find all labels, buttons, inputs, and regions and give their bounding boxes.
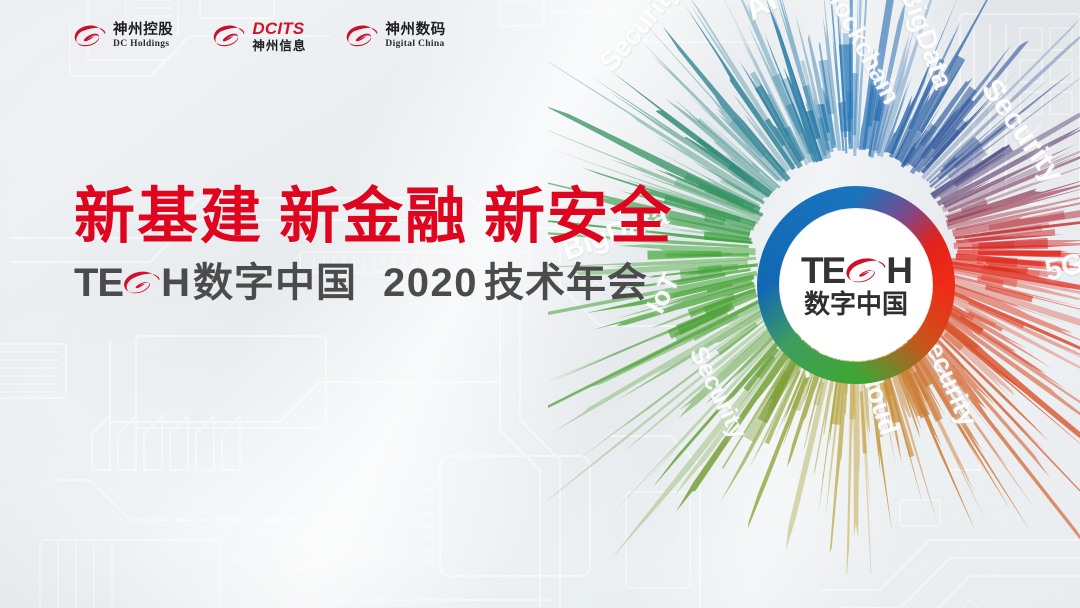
swoosh-icon [843, 256, 887, 286]
headline-block: 新基建新金融新安全 TE H 数字中国 2020 技术年会 [74, 186, 673, 303]
poster-canvas: SecurityAIBlockchainBigDataSecurity5GSec… [0, 0, 1080, 608]
logo-cn-label: 神州控股 [113, 23, 173, 38]
subtitle-swoosh-icon [121, 268, 161, 298]
poster-subtitle: TE H 数字中国 2020 技术年会 [74, 263, 673, 303]
logo-dc-holdings[interactable]: 神州控股 DC Holdings [72, 21, 173, 51]
dc-swoosh-icon [72, 21, 106, 51]
subtitle-tech-right: H [161, 263, 189, 303]
headline-part-2: 新金融 [279, 181, 468, 252]
subtitle-cn-label: 数字中国 [193, 263, 357, 303]
logo-en-label: DC Holdings [113, 40, 173, 50]
digital-china-swoosh-icon [344, 21, 378, 51]
logo-dcits[interactable]: DCITS 神州信息 [211, 20, 306, 53]
headline-part-3: 新安全 [484, 181, 673, 252]
logo-cn-sub-label: 神州信息 [252, 40, 306, 53]
emblem-tech-wordmark: TE H [801, 252, 911, 289]
emblem-core: TE H 数字中国 [781, 210, 931, 360]
logo-cn-label: 神州数码 [385, 23, 445, 38]
subtitle-year: 2020 [383, 263, 478, 303]
logo-digital-china[interactable]: 神州数码 Digital China [344, 21, 445, 51]
subtitle-cn-suffix: 技术年会 [484, 263, 648, 303]
poster-headline: 新基建新金融新安全 [74, 186, 673, 247]
dcits-swoosh-icon [211, 21, 245, 51]
emblem-tech-right: H [886, 252, 911, 289]
emblem-tech-left: TE [801, 252, 844, 289]
tech-digital-china-emblem: TE H 数字中国 [757, 186, 955, 384]
subtitle-tech-left: TE [74, 263, 123, 303]
headline-part-1: 新基建 [74, 181, 263, 252]
logo-en-label: Digital China [385, 40, 445, 50]
logo-bar: 神州控股 DC Holdings DCITS 神州信息 神州数码 Digital… [72, 20, 446, 53]
emblem-cn-label: 数字中国 [804, 292, 908, 318]
logo-brand-label: DCITS [252, 20, 306, 37]
